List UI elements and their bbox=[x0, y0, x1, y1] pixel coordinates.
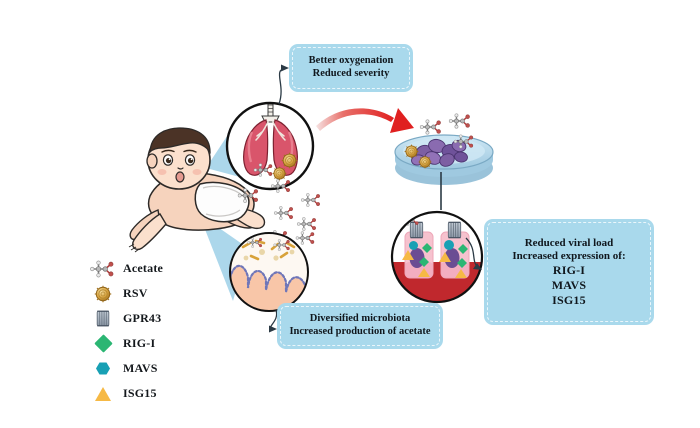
legend-label-rigi: RIG-I bbox=[123, 336, 155, 351]
legend-item-acetate: Acetate bbox=[88, 256, 218, 281]
gene-isg15: ISG15 bbox=[552, 293, 586, 308]
legend-item-mavs: MAVS bbox=[88, 356, 218, 381]
rsv-virus-icon bbox=[88, 283, 118, 305]
legend-item-gpr43: GPR43 bbox=[88, 306, 218, 331]
connector-gut-to-microbiota bbox=[269, 310, 277, 333]
curved-red-arrow bbox=[316, 108, 414, 133]
figure-canvas: Better oxygenation Reduced severity Dive… bbox=[0, 0, 700, 428]
callout-line: Increased expression of: bbox=[512, 250, 625, 263]
acetate-molecule-icon bbox=[301, 193, 320, 206]
acetate-molecule-icon bbox=[296, 232, 314, 245]
callout-line: Increased production of acetate bbox=[289, 326, 430, 339]
callout-diversified-microbiota: Diversified microbiota Increased product… bbox=[277, 303, 443, 349]
legend: Acetate RSV GPR43 RIG-I MAVS ISG15 bbox=[88, 256, 218, 406]
acetate-molecule-icon bbox=[297, 217, 316, 230]
connector-lung-to-oxygenation bbox=[279, 65, 289, 105]
lung-circle-inset bbox=[227, 102, 313, 189]
gene-mavs: MAVS bbox=[552, 278, 587, 293]
legend-item-rigi: RIG-I bbox=[88, 331, 218, 356]
gpr43-receptor-icon bbox=[88, 308, 118, 330]
legend-item-isg15: ISG15 bbox=[88, 381, 218, 406]
callout-reduced-viral-load: Reduced viral load Increased expression … bbox=[484, 219, 654, 325]
legend-label-acetate: Acetate bbox=[123, 261, 163, 276]
rsv-virus-icon bbox=[273, 167, 287, 181]
yellow-triangle-icon bbox=[88, 383, 118, 405]
rsv-virus-icon bbox=[405, 145, 419, 159]
legend-label-isg15: ISG15 bbox=[123, 386, 157, 401]
callout-line: Better oxygenation bbox=[309, 55, 394, 68]
callout-better-oxygenation: Better oxygenation Reduced severity bbox=[289, 44, 413, 92]
rsv-virus-icon bbox=[419, 156, 432, 169]
legend-label-mavs: MAVS bbox=[123, 361, 158, 376]
legend-label-rsv: RSV bbox=[123, 286, 148, 301]
legend-item-rsv: RSV bbox=[88, 281, 218, 306]
callout-line: Diversified microbiota bbox=[310, 313, 410, 326]
acetate-molecule-icon bbox=[88, 258, 118, 280]
acetate-molecule-icon bbox=[420, 120, 440, 135]
infected-cells-circle-inset bbox=[392, 212, 482, 307]
callout-line: Reduced severity bbox=[313, 68, 390, 81]
callout-line: Reduced viral load bbox=[525, 237, 614, 250]
rsv-virus-icon bbox=[282, 153, 298, 169]
gpr43-receptor-icon bbox=[448, 222, 460, 237]
green-diamond-icon bbox=[88, 333, 118, 355]
acetate-molecule-icon bbox=[274, 206, 293, 219]
gene-rigi: RIG-I bbox=[553, 263, 585, 278]
legend-label-gpr43: GPR43 bbox=[123, 311, 161, 326]
acetate-molecule-icon bbox=[449, 114, 469, 129]
teal-hexagon-icon bbox=[88, 358, 118, 380]
